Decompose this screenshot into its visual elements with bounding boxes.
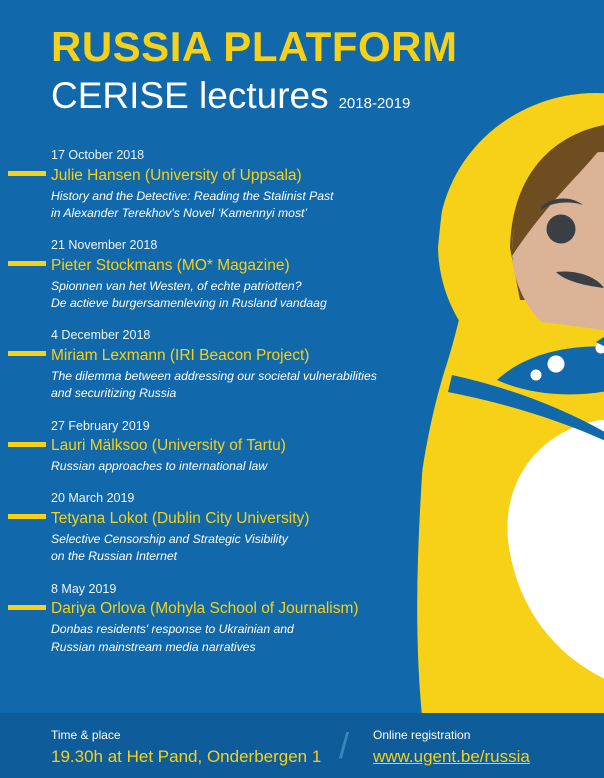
doll-eyebrow bbox=[541, 198, 583, 210]
list-item: 17 October 2018 Julie Hansen (University… bbox=[0, 148, 400, 222]
lecture-topic-line: in Alexander Terekhov's Novel ‘Kamennyi … bbox=[51, 205, 400, 222]
lecture-topic: Donbas residents' response to Ukrainian … bbox=[51, 621, 400, 656]
lecture-topic: History and the Detective: Reading the S… bbox=[51, 188, 400, 223]
doll-hair bbox=[510, 122, 604, 300]
footer-time-place: Time & place 19.30h at Het Pand, Onderbe… bbox=[51, 728, 321, 769]
poster-years: 2018-2019 bbox=[339, 95, 411, 112]
lecture-topic-line: History and the Detective: Reading the S… bbox=[51, 188, 400, 205]
doll-leaf-motif-upper bbox=[497, 346, 604, 394]
doll-eye bbox=[547, 215, 576, 244]
subtitle-row: CERISE lectures 2018-2019 bbox=[51, 77, 457, 114]
lecture-topic-line: Spionnen van het Westen, of echte patrio… bbox=[51, 278, 400, 295]
poster-subtitle: CERISE lectures bbox=[51, 77, 329, 114]
lecture-dash-marker bbox=[8, 261, 46, 266]
lecture-date: 8 May 2019 bbox=[51, 582, 400, 598]
doll-motif-dot bbox=[531, 370, 542, 381]
list-item: 21 November 2018 Pieter Stockmans (MO* M… bbox=[0, 238, 400, 312]
doll-face bbox=[512, 152, 604, 348]
lecture-topic-line: and securitizing Russia bbox=[51, 385, 400, 402]
lecture-topic: Spionnen van het Westen, of echte patrio… bbox=[51, 278, 400, 313]
lecture-date: 27 February 2019 bbox=[51, 419, 400, 435]
lecture-speaker: Miriam Lexmann (IRI Beacon Project) bbox=[51, 346, 400, 367]
lecture-date: 17 October 2018 bbox=[51, 148, 400, 164]
lecture-date: 21 November 2018 bbox=[51, 238, 400, 254]
lecture-date: 4 December 2018 bbox=[51, 328, 400, 344]
lecture-dash-marker bbox=[8, 605, 46, 610]
lecture-date: 20 March 2019 bbox=[51, 491, 400, 507]
lecture-speaker: Lauri Mälksoo (University of Tartu) bbox=[51, 436, 400, 457]
list-item: 27 February 2019 Lauri Mälksoo (Universi… bbox=[0, 419, 400, 476]
list-item: 4 December 2018 Miriam Lexmann (IRI Beac… bbox=[0, 328, 400, 402]
page-title: RUSSIA PLATFORM bbox=[51, 26, 457, 68]
lecture-topic-line: Selective Censorship and Strategic Visib… bbox=[51, 531, 400, 548]
doll-smile bbox=[556, 272, 604, 288]
lecture-dash-marker bbox=[8, 171, 46, 176]
poster-canvas: RUSSIA PLATFORM CERISE lectures 2018-201… bbox=[0, 0, 604, 778]
lecture-topic: Selective Censorship and Strategic Visib… bbox=[51, 531, 400, 566]
lecture-topic-line: on the Russian Internet bbox=[51, 548, 400, 565]
footer-time-label: Time & place bbox=[51, 728, 321, 744]
doll-scarf-wrap bbox=[448, 321, 604, 400]
lecture-topic-line: The dilemma between addressing our socie… bbox=[51, 368, 400, 385]
poster-footer: Time & place 19.30h at Het Pand, Onderbe… bbox=[0, 713, 604, 778]
registration-link[interactable]: www.ugent.be/russia bbox=[373, 747, 530, 766]
lecture-dash-marker bbox=[8, 351, 46, 356]
lecture-topic: The dilemma between addressing our socie… bbox=[51, 368, 400, 403]
lecture-dash-marker bbox=[8, 442, 46, 447]
lecture-speaker: Pieter Stockmans (MO* Magazine) bbox=[51, 256, 400, 277]
doll-leaf-motif-right bbox=[596, 319, 604, 355]
poster-header: RUSSIA PLATFORM CERISE lectures 2018-201… bbox=[51, 26, 457, 114]
doll-apron bbox=[507, 418, 604, 700]
lecture-topic-line: De actieve burgersamenleving in Rusland … bbox=[51, 295, 400, 312]
doll-body-shape bbox=[413, 92, 604, 778]
doll-fringe bbox=[512, 132, 604, 256]
lecture-dash-marker bbox=[8, 514, 46, 519]
lecture-topic-line: Donbas residents' response to Ukrainian … bbox=[51, 621, 400, 638]
lecture-speaker: Julie Hansen (University of Uppsala) bbox=[51, 166, 400, 187]
footer-divider: / bbox=[339, 728, 349, 764]
lecture-speaker: Tetyana Lokot (Dublin City University) bbox=[51, 509, 400, 530]
doll-stem-motif bbox=[448, 375, 604, 470]
list-item: 8 May 2019 Dariya Orlova (Mohyla School … bbox=[0, 582, 400, 656]
footer-inner: Time & place 19.30h at Het Pand, Onderbe… bbox=[0, 713, 604, 778]
lecture-list: 17 October 2018 Julie Hansen (University… bbox=[0, 148, 400, 672]
lecture-topic-line: Russian approaches to international law bbox=[51, 458, 400, 475]
lecture-topic-line: Russian mainstream media narratives bbox=[51, 639, 400, 656]
list-item: 20 March 2019 Tetyana Lokot (Dublin City… bbox=[0, 491, 400, 565]
footer-registration-label: Online registration bbox=[373, 728, 530, 744]
lecture-topic: Russian approaches to international law bbox=[51, 458, 400, 475]
doll-motif-dot bbox=[548, 356, 565, 373]
doll-motif-dot bbox=[596, 343, 604, 354]
doll-headscarf bbox=[438, 93, 604, 397]
footer-registration-value: www.ugent.be/russia bbox=[373, 746, 530, 769]
lecture-speaker: Dariya Orlova (Mohyla School of Journali… bbox=[51, 599, 400, 620]
footer-registration: Online registration www.ugent.be/russia bbox=[373, 728, 530, 769]
footer-time-value: 19.30h at Het Pand, Onderbergen 1 bbox=[51, 746, 321, 769]
